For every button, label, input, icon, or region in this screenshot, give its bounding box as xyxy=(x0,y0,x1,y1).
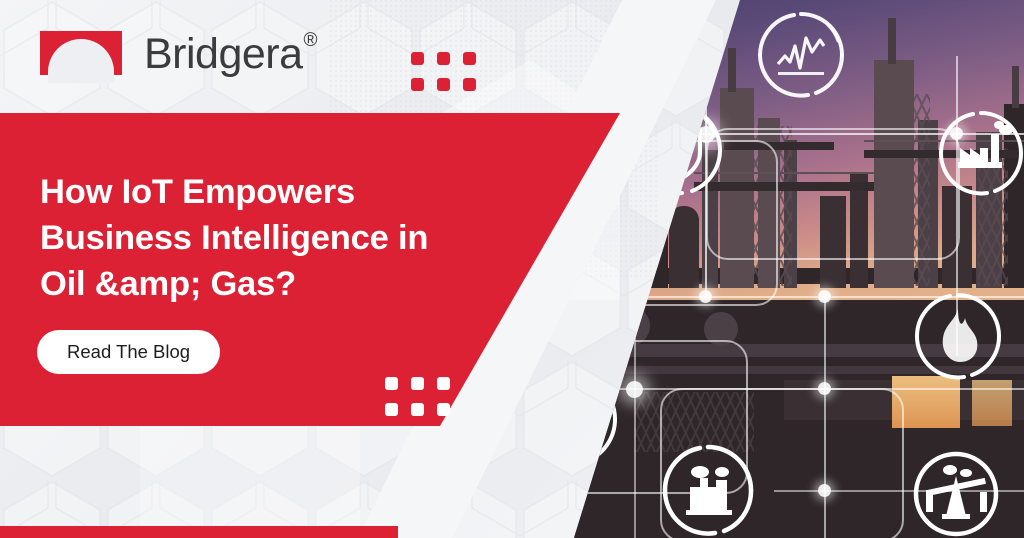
read-the-blog-button[interactable]: Read The Blog xyxy=(37,330,220,374)
dot-grid-icon xyxy=(385,377,450,416)
flame-icon xyxy=(912,290,1004,382)
factory-icon xyxy=(936,108,1024,198)
banner-footer: www.bridgera.com info@bridgera.com xyxy=(0,426,440,538)
headline-line-3: Oil &amp; Gas? xyxy=(40,262,520,308)
network-path xyxy=(706,128,960,260)
registered-trademark-icon: ® xyxy=(304,30,318,51)
headline-line-2: Business Intelligence in xyxy=(40,216,520,262)
network-node xyxy=(699,290,712,303)
oil-derrick-icon xyxy=(910,448,1002,538)
promo-banner: $ xyxy=(0,0,1024,538)
headline-line-1: How IoT Empowers xyxy=(40,170,520,216)
network-node xyxy=(626,381,643,398)
refinery-icon xyxy=(660,442,756,538)
network-line xyxy=(824,296,826,538)
hero-headline: How IoT Empowers Business Intelligence i… xyxy=(40,170,520,308)
network-line xyxy=(634,330,636,538)
banner-header: Bridgera® xyxy=(0,0,700,113)
network-node xyxy=(818,290,831,303)
bridge-arch-logo-icon xyxy=(40,31,122,75)
brand-name: Bridgera® xyxy=(144,33,316,76)
dot-grid-icon xyxy=(411,52,476,91)
brand-name-text: Bridgera xyxy=(144,30,303,78)
analytics-chart-icon xyxy=(754,8,848,102)
network-node xyxy=(818,484,831,497)
network-node xyxy=(818,382,831,395)
footer-accent-bar xyxy=(0,526,398,538)
brand-logo[interactable]: Bridgera® xyxy=(40,31,316,75)
